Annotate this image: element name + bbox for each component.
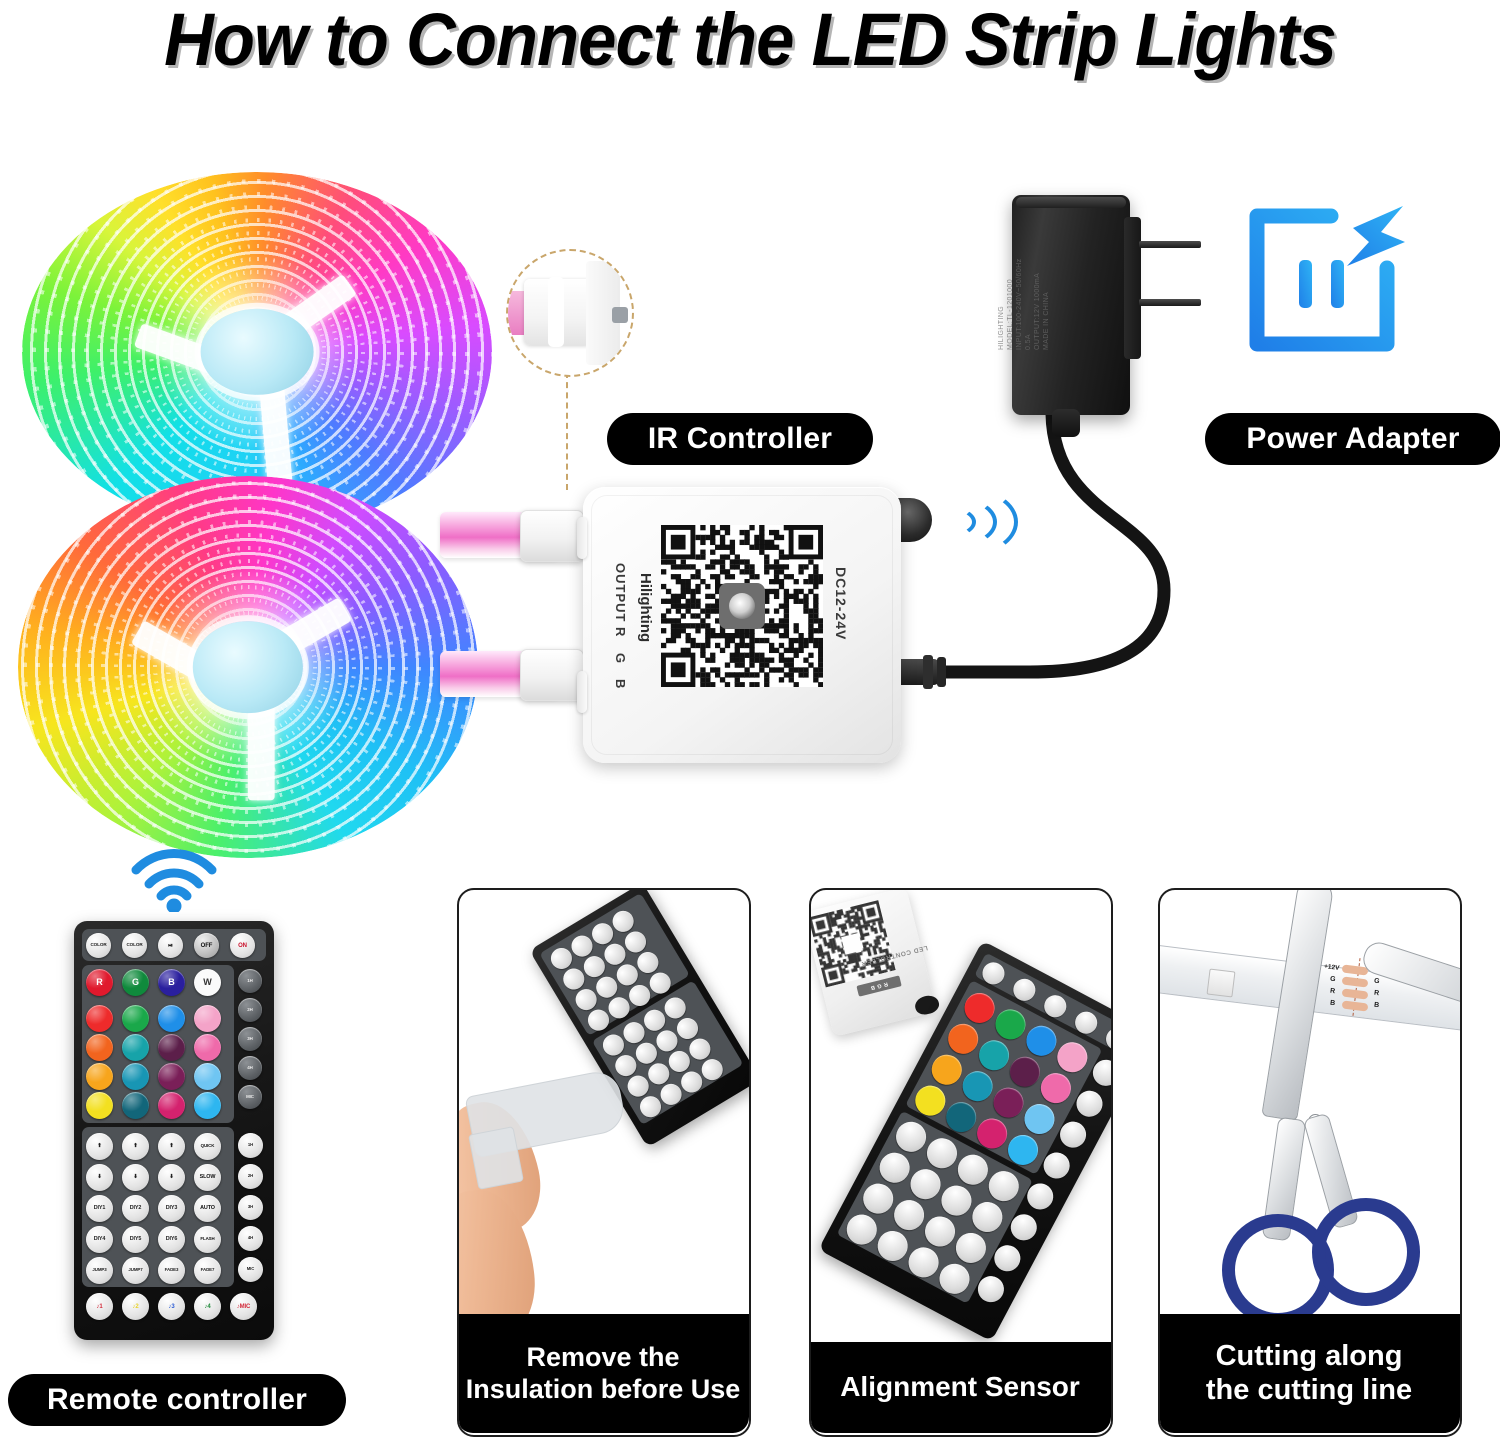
remote-button-label: DIY6 bbox=[166, 1237, 178, 1242]
adapter-spec-text: HILIGHTING MODEL:TL-1201000 INPUT:100-24… bbox=[997, 258, 1147, 350]
pad-label-right-3: B bbox=[1374, 1002, 1380, 1010]
panel-caption-alignment: Alignment Sensor bbox=[809, 1342, 1111, 1433]
controller-voltage: DC12-24V bbox=[833, 567, 849, 640]
remote-button-label: ♪1 bbox=[96, 1304, 102, 1310]
remote-button-label: MIC bbox=[246, 1095, 254, 1099]
reel-hub bbox=[201, 309, 314, 395]
remote-btn-color-b[interactable]: B bbox=[158, 969, 185, 996]
wifi-signal-icon bbox=[128, 838, 220, 912]
remote-btn-swatch-1-1[interactable] bbox=[122, 1034, 149, 1061]
remote-btn-swatch-0-1[interactable] bbox=[122, 1005, 149, 1032]
remote-button-label: 4H bbox=[247, 1066, 252, 1070]
remote-btn-diy5-3-1[interactable]: DIY5 bbox=[122, 1226, 149, 1253]
remote-btn-diy4-3-0[interactable]: DIY4 bbox=[86, 1226, 113, 1253]
remote-button-label: 3H bbox=[248, 1205, 253, 1209]
remote-button-label: JUMP3 bbox=[92, 1268, 106, 1272]
ir-controller-device: OUTPUT R G B Hilighting DC12-24V bbox=[583, 487, 901, 763]
remote-btn-jump3-4-0[interactable]: JUMP3 bbox=[86, 1257, 113, 1284]
remote-btn-side-3h[interactable]: 3H bbox=[238, 1027, 262, 1051]
pad-label-right-2: R bbox=[1374, 990, 1380, 998]
controller-side-port bbox=[577, 517, 587, 559]
remote-btn-swatch-0-0[interactable] bbox=[86, 1005, 113, 1032]
remote-btn--0-0[interactable]: ⬆ bbox=[86, 1133, 113, 1160]
remote-btn-swatch-3-1[interactable] bbox=[122, 1092, 149, 1119]
remote-btn-timer-mic[interactable]: MIC bbox=[238, 1257, 263, 1282]
remote-btn-slow-1-3[interactable]: SLOW bbox=[194, 1164, 221, 1191]
led-strip-connector-top bbox=[520, 510, 584, 562]
remote-button-label: ♪MIC bbox=[237, 1304, 251, 1310]
power-adapter-device: HILIGHTING MODEL:TL-1201000 INPUT:100-24… bbox=[1012, 195, 1149, 415]
remote-button-label: R bbox=[96, 978, 102, 987]
remote-btn--0-2[interactable]: ⬆ bbox=[158, 1133, 185, 1160]
power-outlet-icon bbox=[1235, 198, 1405, 362]
remote-btn--1-1[interactable]: ⬇ bbox=[122, 1164, 149, 1191]
remote-btn-auto-2-3[interactable]: AUTO bbox=[194, 1195, 221, 1222]
remote-btn-timer-3h[interactable]: 3H bbox=[238, 1195, 263, 1220]
remote-btn-diy3-2-2[interactable]: DIY3 bbox=[158, 1195, 185, 1222]
panel-caption-insulation: Remove the Insulation before Use bbox=[457, 1314, 749, 1433]
remote-btn-flash-3-3[interactable]: FLASH bbox=[194, 1226, 221, 1253]
remote-btn-side-mic[interactable]: MIC bbox=[238, 1085, 262, 1109]
remote-button-label: B bbox=[168, 978, 174, 987]
remote-btn-swatch-3-3[interactable] bbox=[194, 1092, 221, 1119]
page-title: How to Connect the LED Strip Lights bbox=[0, 0, 1500, 82]
remote-btn-diy2-2-1[interactable]: DIY2 bbox=[122, 1195, 149, 1222]
ir-controller-label: IR Controller bbox=[607, 413, 873, 465]
remote-btn-swatch-1-2[interactable] bbox=[158, 1034, 185, 1061]
remote-btn-side-1h[interactable]: 1H bbox=[238, 969, 262, 993]
remote-button-label: ♪4 bbox=[204, 1304, 210, 1310]
remote-button-label: JUMP7 bbox=[128, 1268, 142, 1272]
remote-btn-off[interactable]: OFF bbox=[194, 933, 219, 958]
remote-btn-swatch-0-2[interactable] bbox=[158, 1005, 185, 1032]
remote-button-label: COLOR bbox=[90, 943, 106, 948]
remote-button-label: ♪2 bbox=[132, 1304, 138, 1310]
adapter-prong-upper bbox=[1139, 241, 1201, 248]
remote-button-label: AUTO bbox=[200, 1206, 215, 1211]
remote-button-label: FADE3 bbox=[165, 1268, 179, 1272]
panel-alignment-sensor: LED CONTROLLER R G B Alignment Sensor bbox=[809, 888, 1113, 1437]
remote-btn-side-4h[interactable]: 4H bbox=[238, 1056, 262, 1080]
remote-btn-color-r[interactable]: R bbox=[86, 969, 113, 996]
remote-button-label: QUICK bbox=[201, 1144, 215, 1148]
remote-btn-music-4[interactable]: ♪4 bbox=[194, 1293, 221, 1320]
page-title-text: How to Connect the LED Strip Lights bbox=[164, 0, 1336, 82]
remote-btn-swatch-2-1[interactable] bbox=[122, 1063, 149, 1090]
remote-btn-swatch-1-0[interactable] bbox=[86, 1034, 113, 1061]
remote-btn-diy1-2-0[interactable]: DIY1 bbox=[86, 1195, 113, 1222]
panel-cutting-line: +12V G R B +12V G R B Cutting along the … bbox=[1158, 888, 1462, 1437]
power-adapter-label: Power Adapter bbox=[1205, 413, 1500, 465]
remote-btn-color-w[interactable]: W bbox=[194, 969, 221, 996]
callout-connector-notch bbox=[548, 277, 564, 347]
remote-btn-timer-1h[interactable]: 1H bbox=[238, 1133, 263, 1158]
caption-text: Alignment Sensor bbox=[840, 1371, 1080, 1403]
remote-button-label: FADE7 bbox=[201, 1268, 215, 1272]
remote-btn-swatch-2-3[interactable] bbox=[194, 1063, 221, 1090]
adapter-prong-lower bbox=[1139, 299, 1201, 306]
controller-side-port bbox=[577, 671, 587, 713]
remote-btn-music-3[interactable]: ♪3 bbox=[158, 1293, 185, 1320]
remote-btn-[interactable]: ⏯ bbox=[158, 933, 183, 958]
alignment-sensor-controller: LED CONTROLLER R G B bbox=[809, 888, 937, 1037]
remote-button-label: DIY3 bbox=[166, 1206, 178, 1211]
remote-button-label: DIY5 bbox=[130, 1237, 142, 1242]
remote-btn-timer-4h[interactable]: 4H bbox=[238, 1226, 263, 1251]
remote-button-label: DIY4 bbox=[94, 1237, 106, 1242]
remote-btn--0-1[interactable]: ⬆ bbox=[122, 1133, 149, 1160]
remote-button-label: FLASH bbox=[200, 1237, 214, 1241]
remote-btn-jump7-4-1[interactable]: JUMP7 bbox=[122, 1257, 149, 1284]
remote-button-label: DIY1 bbox=[94, 1206, 106, 1211]
remote-btn--1-0[interactable]: ⬇ bbox=[86, 1164, 113, 1191]
remote-button-label: 4H bbox=[248, 1236, 253, 1240]
remote-button-label: ⬇ bbox=[133, 1175, 137, 1180]
led-strip-connector-bottom bbox=[520, 649, 584, 701]
remote-btn-swatch-1-3[interactable] bbox=[194, 1034, 221, 1061]
remote-button-label: 1H bbox=[247, 979, 252, 983]
caption-line-1: Remove the bbox=[526, 1342, 679, 1373]
remote-btn-side-2h[interactable]: 2H bbox=[238, 998, 262, 1022]
remote-button-label: ⬆ bbox=[97, 1144, 101, 1149]
remote-button-label: ⬆ bbox=[169, 1144, 173, 1149]
controller-dc-jack bbox=[893, 655, 959, 689]
remote-button-label: 1H bbox=[248, 1143, 253, 1147]
remote-button-label: 2H bbox=[247, 1008, 252, 1012]
remote-btn-color-plus[interactable]: COLOR bbox=[86, 933, 111, 958]
mini-remote-buttons bbox=[529, 888, 642, 950]
remote-button-label: ⬇ bbox=[97, 1175, 101, 1180]
controller-channel-r: R bbox=[613, 627, 628, 637]
controller-brand: Hilighting bbox=[637, 573, 654, 642]
remote-button-label: W bbox=[203, 978, 211, 987]
panel-caption-cutting: Cutting along the cutting line bbox=[1158, 1314, 1460, 1433]
adapter-strain-relief bbox=[1052, 409, 1080, 437]
remote-btn-music-5[interactable]: ♪MIC bbox=[230, 1293, 257, 1320]
caption-line-1: Cutting along bbox=[1216, 1340, 1403, 1374]
remote-btn-music-2[interactable]: ♪2 bbox=[122, 1293, 149, 1320]
remote-button-label: COLOR bbox=[126, 943, 142, 948]
remote-button-label: OFF bbox=[201, 943, 213, 949]
pad-label-left-2: R bbox=[1330, 988, 1336, 996]
power-adapter-label-text: Power Adapter bbox=[1246, 422, 1459, 456]
remote-btn-swatch-3-2[interactable] bbox=[158, 1092, 185, 1119]
pad-label-left-3: B bbox=[1330, 1000, 1336, 1008]
remote-btn-quick-0-3[interactable]: QUICK bbox=[194, 1133, 221, 1160]
remote-button-label: G bbox=[132, 978, 139, 987]
controller-qr-code bbox=[661, 525, 823, 687]
adapter-top-edge bbox=[1016, 197, 1126, 208]
remote-button-label: ♪3 bbox=[168, 1304, 174, 1310]
sensor-rgb-chip: R G B bbox=[856, 975, 901, 996]
remote-btn-fade3-4-2[interactable]: FADE3 bbox=[158, 1257, 185, 1284]
pad-label-left-1: G bbox=[1330, 976, 1336, 984]
remote-button-label: ON bbox=[238, 943, 247, 949]
remote-btn-color-g[interactable]: G bbox=[122, 969, 149, 996]
remote-btn-on[interactable]: ON bbox=[230, 933, 255, 958]
remote-controller-device[interactable]: COLORCOLOR⏯OFFONRGBW1H2H3H4HMIC⬆⬆⬆QUICK⬇… bbox=[74, 921, 274, 1340]
caption-line-2: Insulation before Use bbox=[466, 1374, 741, 1405]
controller-output-label: OUTPUT bbox=[613, 563, 628, 622]
remote-button-label: 2H bbox=[248, 1174, 253, 1178]
remote-btn-swatch-0-3[interactable] bbox=[194, 1005, 221, 1032]
remote-btn-timer-2h[interactable]: 2H bbox=[238, 1164, 263, 1189]
remote-button-label: DIY2 bbox=[130, 1206, 142, 1211]
remote-controller-label-text: Remote controller bbox=[47, 1383, 307, 1417]
controller-center-lens bbox=[719, 583, 765, 629]
led-chip bbox=[1207, 969, 1236, 998]
remote-btn-swatch-2-0[interactable] bbox=[86, 1063, 113, 1090]
remote-button-label: SLOW bbox=[200, 1175, 216, 1180]
remote-button-label: 3H bbox=[247, 1037, 252, 1041]
controller-channel-g: G bbox=[613, 653, 628, 664]
callout-connector-pin bbox=[612, 307, 628, 323]
caption-line-2: the cutting line bbox=[1206, 1374, 1412, 1408]
remote-button-label: ⬇ bbox=[169, 1175, 173, 1180]
remote-btn-swatch-2-2[interactable] bbox=[158, 1063, 185, 1090]
remote-controller-label: Remote controller bbox=[8, 1374, 346, 1426]
remote-btn-diy6-3-2[interactable]: DIY6 bbox=[158, 1226, 185, 1253]
panel-remove-insulation: Remove the Insulation before Use bbox=[457, 888, 751, 1437]
remote-btn-music-1[interactable]: ♪1 bbox=[86, 1293, 113, 1320]
controller-channel-b: B bbox=[613, 679, 628, 689]
remote-button-label: MIC bbox=[247, 1267, 254, 1271]
reel-hub bbox=[193, 621, 303, 713]
callout-leader-line bbox=[566, 372, 568, 490]
remote-btn-color-minus[interactable]: COLOR bbox=[122, 933, 147, 958]
remote-btn--1-2[interactable]: ⬇ bbox=[158, 1164, 185, 1191]
pad-label-right-1: G bbox=[1374, 978, 1380, 986]
remote-btn-fade7-4-3[interactable]: FADE7 bbox=[194, 1257, 221, 1284]
led-reel-bottom bbox=[18, 476, 478, 858]
remote-button-label: ⏯ bbox=[168, 943, 173, 949]
remote-button-label: ⬆ bbox=[133, 1144, 137, 1149]
remote-btn-swatch-3-0[interactable] bbox=[86, 1092, 113, 1119]
connector-detail-callout bbox=[506, 249, 634, 377]
ir-controller-label-text: IR Controller bbox=[648, 422, 832, 456]
